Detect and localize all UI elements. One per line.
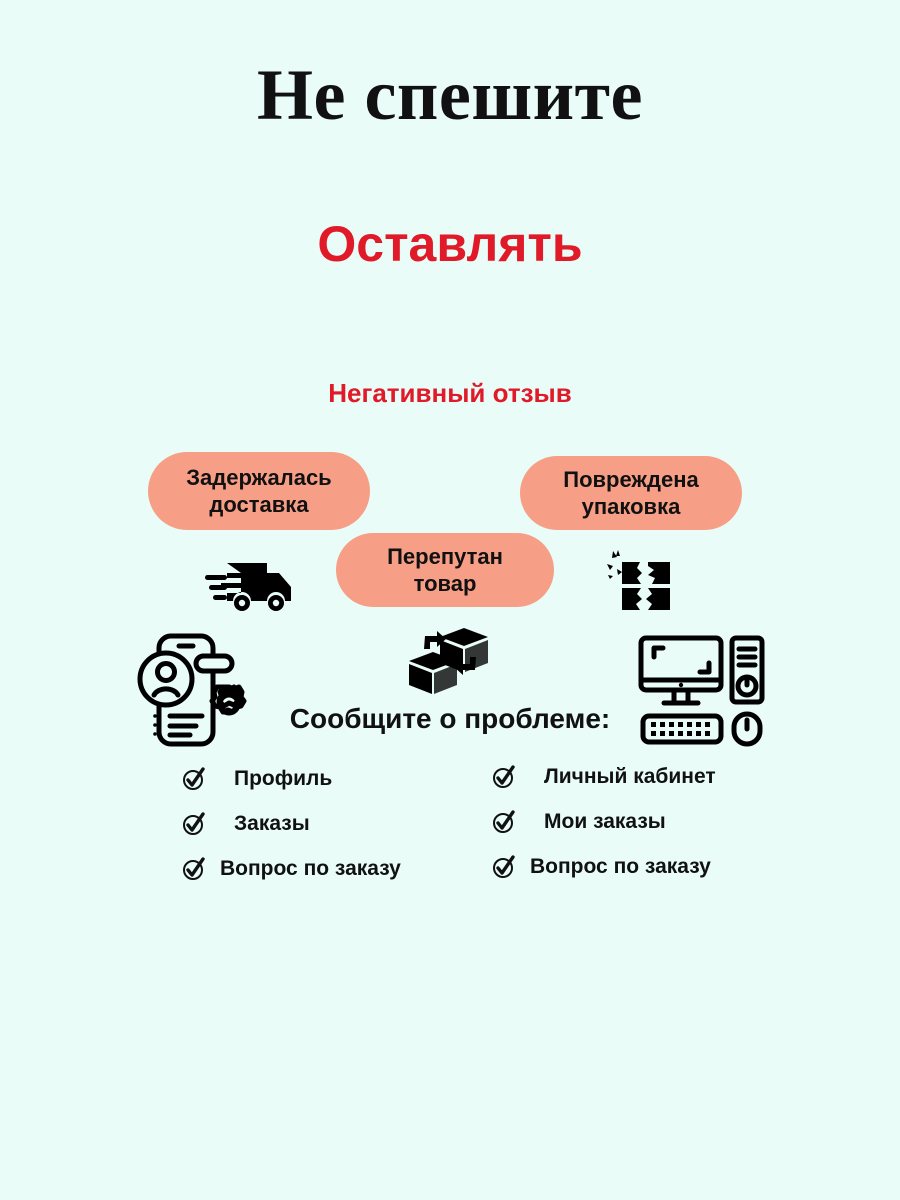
list-item-label: Профиль xyxy=(234,767,332,791)
list-item-label: Заказы xyxy=(234,812,310,836)
list-item[interactable]: Заказы xyxy=(182,811,401,837)
reason-pill-damaged-packaging: Повреждена упаковка xyxy=(520,456,742,530)
reason-line-1: Задержалась xyxy=(186,465,331,490)
checklist-desktop-site: Личный кабинет Мои заказы Вопрос по зака… xyxy=(492,764,716,880)
list-item[interactable]: Профиль xyxy=(182,766,401,792)
reason-line-2: упаковка xyxy=(582,494,681,519)
reason-pill-delayed-delivery-label: Задержалась доставка xyxy=(186,464,331,519)
check-circle-icon xyxy=(182,766,206,792)
infographic-canvas: Не спешите Оставлять Негативный отзыв За… xyxy=(0,0,900,1200)
reason-pill-damaged-packaging-label: Повреждена упаковка xyxy=(563,466,698,521)
reason-line-1: Перепутан xyxy=(387,544,503,569)
check-circle-icon xyxy=(182,856,206,882)
list-item[interactable]: Вопрос по заказу xyxy=(182,856,401,882)
reason-line-2: товар xyxy=(414,571,477,596)
list-item-label: Вопрос по заказу xyxy=(530,855,711,879)
list-item-label: Вопрос по заказу xyxy=(220,857,401,881)
section-label-negative-review: Негативный отзыв xyxy=(0,378,900,409)
broken-box-icon xyxy=(604,548,686,620)
page-title: Не спешите xyxy=(0,58,900,134)
reason-line-2: доставка xyxy=(209,492,308,517)
check-circle-icon xyxy=(492,764,516,790)
list-item-label: Личный кабинет xyxy=(544,765,716,789)
list-item-label: Мои заказы xyxy=(544,810,666,834)
check-circle-icon xyxy=(182,811,206,837)
check-circle-icon xyxy=(492,809,516,835)
list-item[interactable]: Личный кабинет xyxy=(492,764,716,790)
list-item[interactable]: Вопрос по заказу xyxy=(492,854,716,880)
check-circle-icon xyxy=(492,854,516,880)
reason-pill-delayed-delivery: Задержалась доставка xyxy=(148,452,370,530)
swap-boxes-icon xyxy=(409,624,491,696)
reason-pill-wrong-item: Перепутан товар xyxy=(336,533,554,607)
checklist-mobile-app: Профиль Заказы Вопрос по заказу xyxy=(182,766,401,882)
reason-line-1: Повреждена xyxy=(563,467,698,492)
instruction-heading: Сообщите о проблеме: xyxy=(0,703,900,735)
list-item[interactable]: Мои заказы xyxy=(492,809,716,835)
reason-pill-wrong-item-label: Перепутан товар xyxy=(387,543,503,598)
subtitle: Оставлять xyxy=(0,218,900,271)
delivery-truck-icon xyxy=(205,553,301,615)
